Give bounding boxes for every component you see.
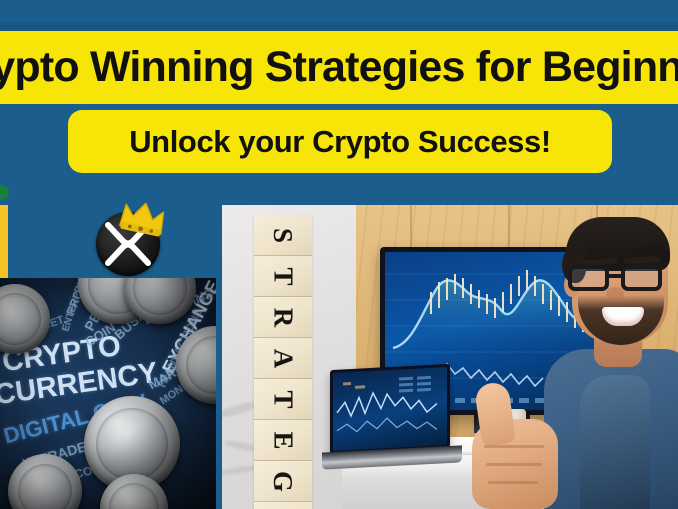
photo-vignette — [0, 278, 216, 509]
letter-tile-char: E — [269, 431, 296, 449]
xrp-coin-with-crown — [96, 202, 162, 278]
strategy-letter-tiles: STRATEGY — [254, 215, 312, 509]
letter-tile: S — [254, 215, 312, 256]
laptop-chart — [330, 364, 450, 454]
letter-tile: R — [254, 297, 312, 338]
subtitle-pill: Unlock your Crypto Success! — [68, 110, 612, 173]
letter-tile: E — [254, 420, 312, 461]
letter-tile-char: S — [270, 227, 297, 242]
letter-tile: T — [254, 256, 312, 297]
letter-tile: A — [254, 338, 312, 379]
letter-tile-char: A — [270, 348, 297, 368]
trader-desk-photo: STRATEGY — [222, 205, 678, 509]
letter-tile: G — [254, 461, 312, 502]
letter-tile: Y — [254, 502, 312, 509]
hand-thumb — [474, 381, 516, 447]
subtitle-text: Unlock your Crypto Success! — [129, 126, 551, 157]
thumbnail-canvas: Crypto Winning Strategies for Beginners … — [0, 0, 678, 509]
letter-tile-char: G — [269, 470, 296, 491]
letter-tile-char: R — [270, 307, 297, 327]
letter-tile-char: T — [269, 390, 296, 408]
yellow-bar-decoration — [0, 205, 8, 281]
letter-tile-char: T — [269, 267, 296, 285]
top-accent-strip — [0, 22, 678, 31]
green-dot-decoration — [0, 185, 9, 200]
man-shirt-fold — [580, 375, 650, 509]
laptop-screen-inner — [333, 367, 447, 451]
title-text: Crypto Winning Strategies for Beginners — [0, 46, 678, 89]
title-banner: Crypto Winning Strategies for Beginners — [0, 31, 678, 104]
letter-tile: T — [254, 379, 312, 420]
man-glasses-icon — [568, 265, 670, 291]
cryptocurrency-coins-photo: CRYPTOCURRENCYDIGITAL COINEXCHANGELITE C… — [0, 278, 216, 509]
thumbs-up-hand — [462, 383, 566, 509]
laptop-chart-graphic — [333, 367, 447, 451]
